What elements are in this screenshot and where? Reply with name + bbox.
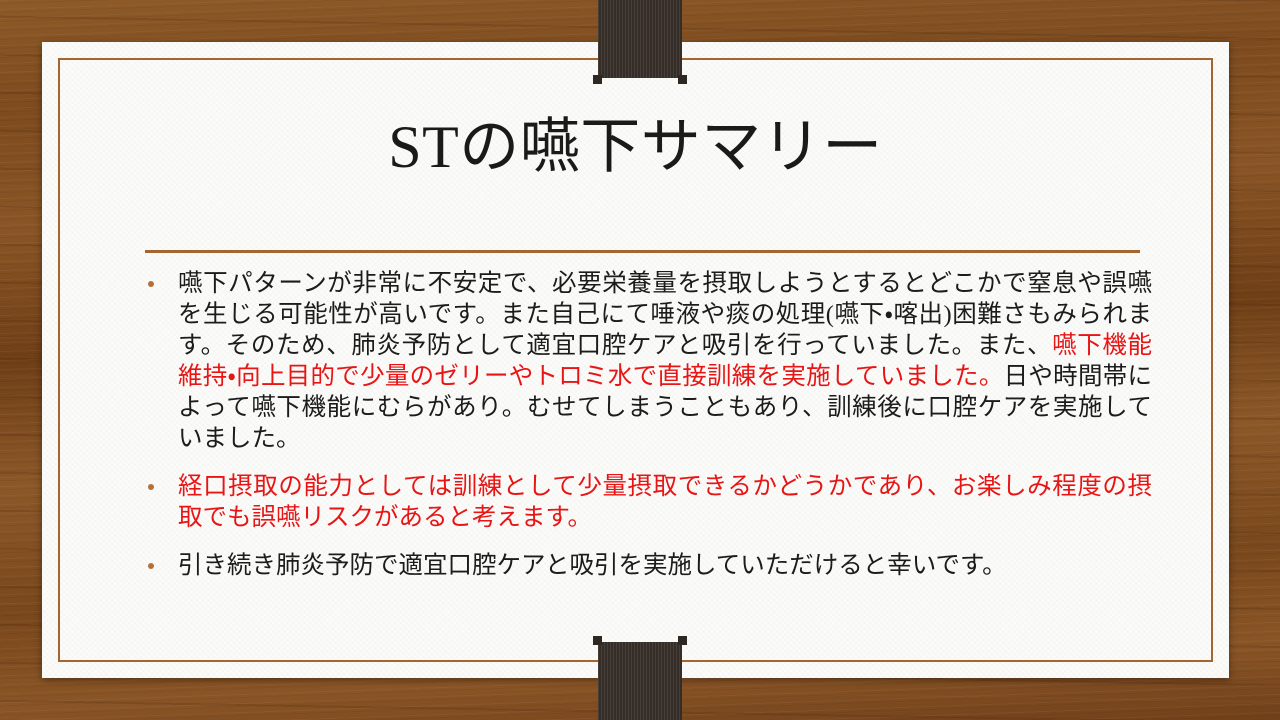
bullet-text: 経口摂取の能力としては訓練として少量摂取できるかどうかであり、お楽しみ程度の摂取…: [178, 471, 1152, 533]
slide-canvas: { "slide": { "title": "STの嚥下サマリー", "acce…: [0, 0, 1280, 720]
clip-top: [598, 0, 682, 78]
bullet-oral-intake-ability: 経口摂取の能力としては訓練として少量摂取できるかどうかであり、お楽しみ程度の摂取…: [140, 471, 1152, 533]
bullet-text-run: 嚥下パターンが非常に不安定で、必要栄養量を摂取しようとするとどこかで窒息や誤嚥を…: [178, 270, 1152, 359]
bullet-swallow-pattern: 嚥下パターンが非常に不安定で、必要栄養量を摂取しようとするとどこかで窒息や誤嚥を…: [140, 268, 1152, 454]
bullet-text: 引き続き肺炎予防で適宜口腔ケアと吸引を実施していただけると幸いです。: [178, 550, 1152, 581]
bullet-marker-icon: [148, 484, 154, 490]
bullet-list: 嚥下パターンが非常に不安定で、必要栄養量を摂取しようとするとどこかで窒息や誤嚥を…: [140, 268, 1152, 581]
bullet-marker-icon: [148, 281, 154, 287]
title-divider-rule: [145, 250, 1140, 253]
clip-bottom-foot-left: [593, 636, 602, 645]
clip-bottom-foot-right: [678, 636, 687, 645]
slide-title: STの嚥下サマリー: [42, 116, 1229, 179]
bullet-continue-care: 引き続き肺炎予防で適宜口腔ケアと吸引を実施していただけると幸いです。: [140, 550, 1152, 581]
bullet-text-run: 引き続き肺炎予防で適宜口腔ケアと吸引を実施していただけると幸いです。: [178, 552, 1007, 579]
clip-top-foot-right: [678, 75, 687, 84]
clip-bottom: [598, 642, 682, 720]
bullet-text: 嚥下パターンが非常に不安定で、必要栄養量を摂取しようとするとどこかで窒息や誤嚥を…: [178, 268, 1152, 454]
bullet-text-accent-run: 経口摂取の能力としては訓練として少量摂取できるかどうかであり、お楽しみ程度の摂取…: [178, 473, 1152, 531]
clip-top-foot-left: [593, 75, 602, 84]
bullet-marker-icon: [148, 563, 154, 569]
